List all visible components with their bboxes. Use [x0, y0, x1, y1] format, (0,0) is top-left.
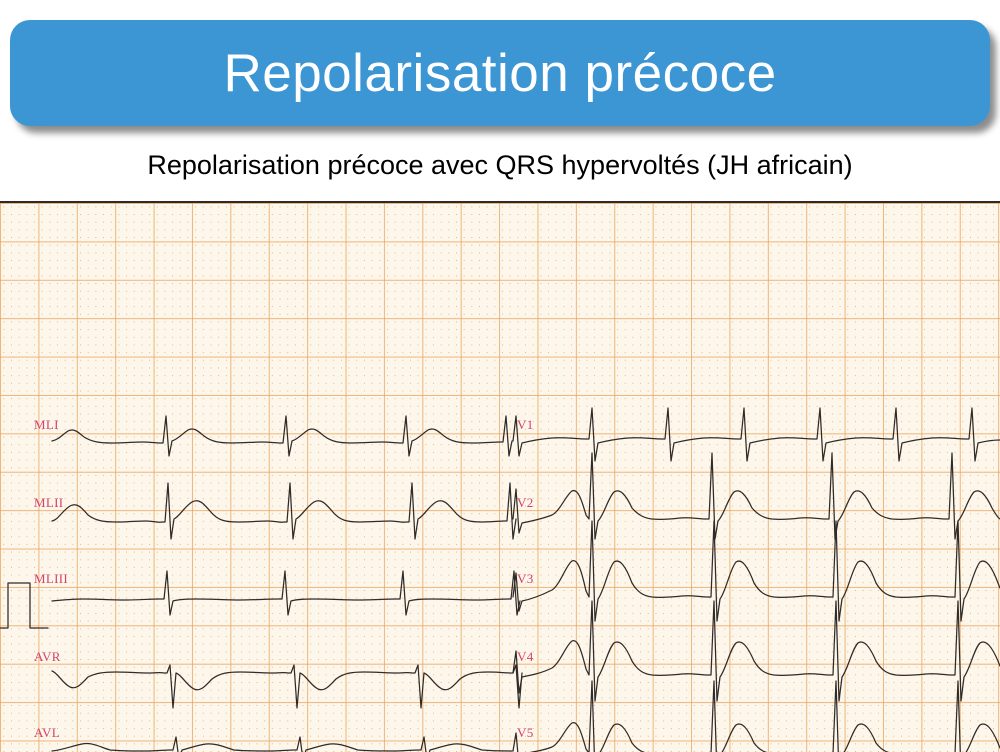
ecg-image: MLI MLII MLIII AVR AVL AVF MLII V1 V2 V3…: [0, 201, 1000, 752]
lead-label-mlii: MLII: [34, 495, 63, 511]
trace-row-v3: [513, 521, 1000, 621]
trace-row-v1: [513, 408, 1000, 461]
trace-row-v5: [513, 681, 1000, 752]
lead-label-mli: MLI: [34, 417, 59, 433]
trace-row-avr: [52, 665, 522, 708]
lead-label-v3: V3: [517, 571, 534, 587]
slide-subtitle: Repolarisation précoce avec QRS hypervol…: [0, 150, 1000, 181]
lead-label-avl: AVL: [34, 725, 60, 741]
lead-label-v1: V1: [517, 417, 534, 433]
lead-label-avr: AVR: [34, 649, 61, 665]
page-title: Repolarisation précoce: [223, 47, 776, 100]
slide-title-banner: Repolarisation précoce: [10, 20, 990, 126]
trace-row-mli: [52, 416, 512, 456]
trace-row-mlii: [52, 483, 516, 539]
ecg-traces: [0, 203, 1000, 752]
trace-row-mliii: [52, 571, 520, 615]
lead-label-v5: V5: [517, 725, 534, 741]
calibration-pulse: [0, 583, 48, 628]
trace-row-v4: [513, 601, 1000, 701]
lead-label-v4: V4: [517, 649, 534, 665]
lead-label-v2: V2: [517, 495, 534, 511]
lead-label-mliii: MLIII: [34, 571, 68, 587]
trace-row-v2: [513, 453, 1000, 539]
